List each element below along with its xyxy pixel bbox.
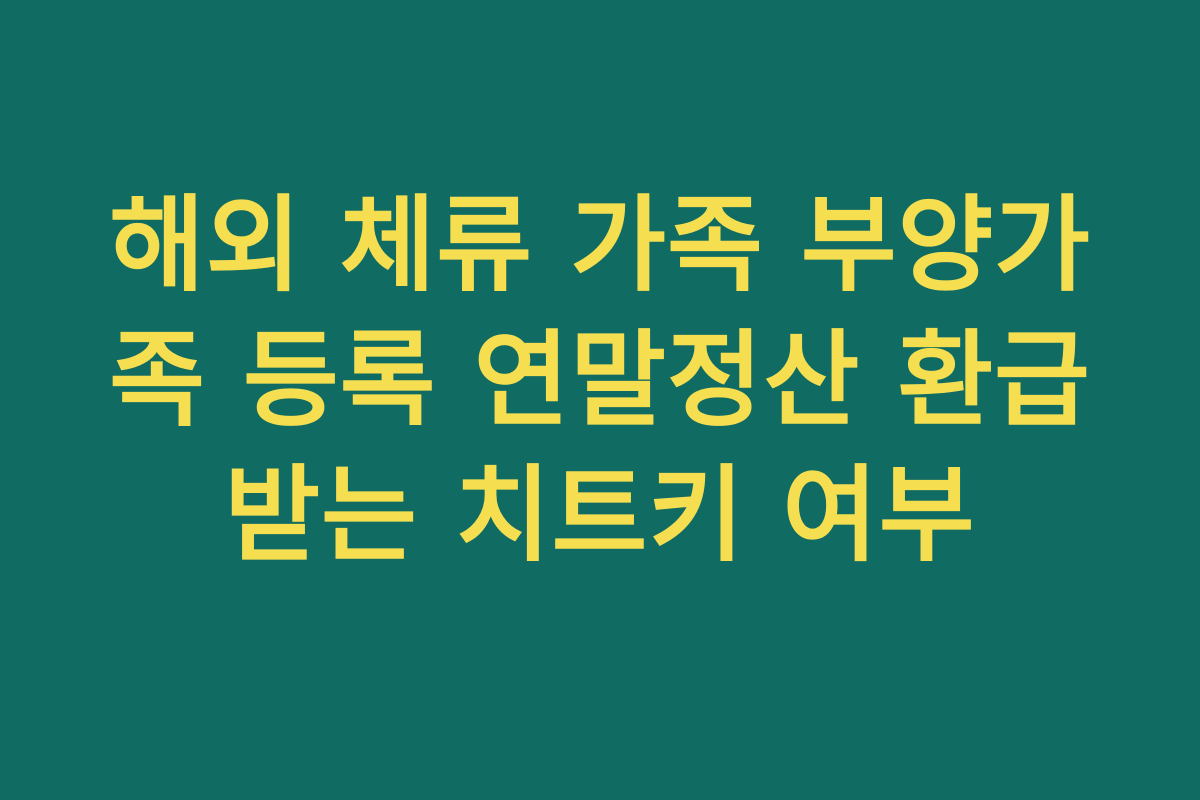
banner-title-block: 해외 체류 가족 부양가 족 등록 연말정산 환급 받는 치트키 여부 <box>95 178 1105 583</box>
banner-canvas: 해외 체류 가족 부양가 족 등록 연말정산 환급 받는 치트키 여부 <box>0 0 1200 800</box>
banner-title-line-2: 족 등록 연말정산 환급 <box>95 313 1105 448</box>
banner-title-line-1: 해외 체류 가족 부양가 <box>95 178 1105 313</box>
banner-title-line-3: 받는 치트키 여부 <box>95 448 1105 583</box>
